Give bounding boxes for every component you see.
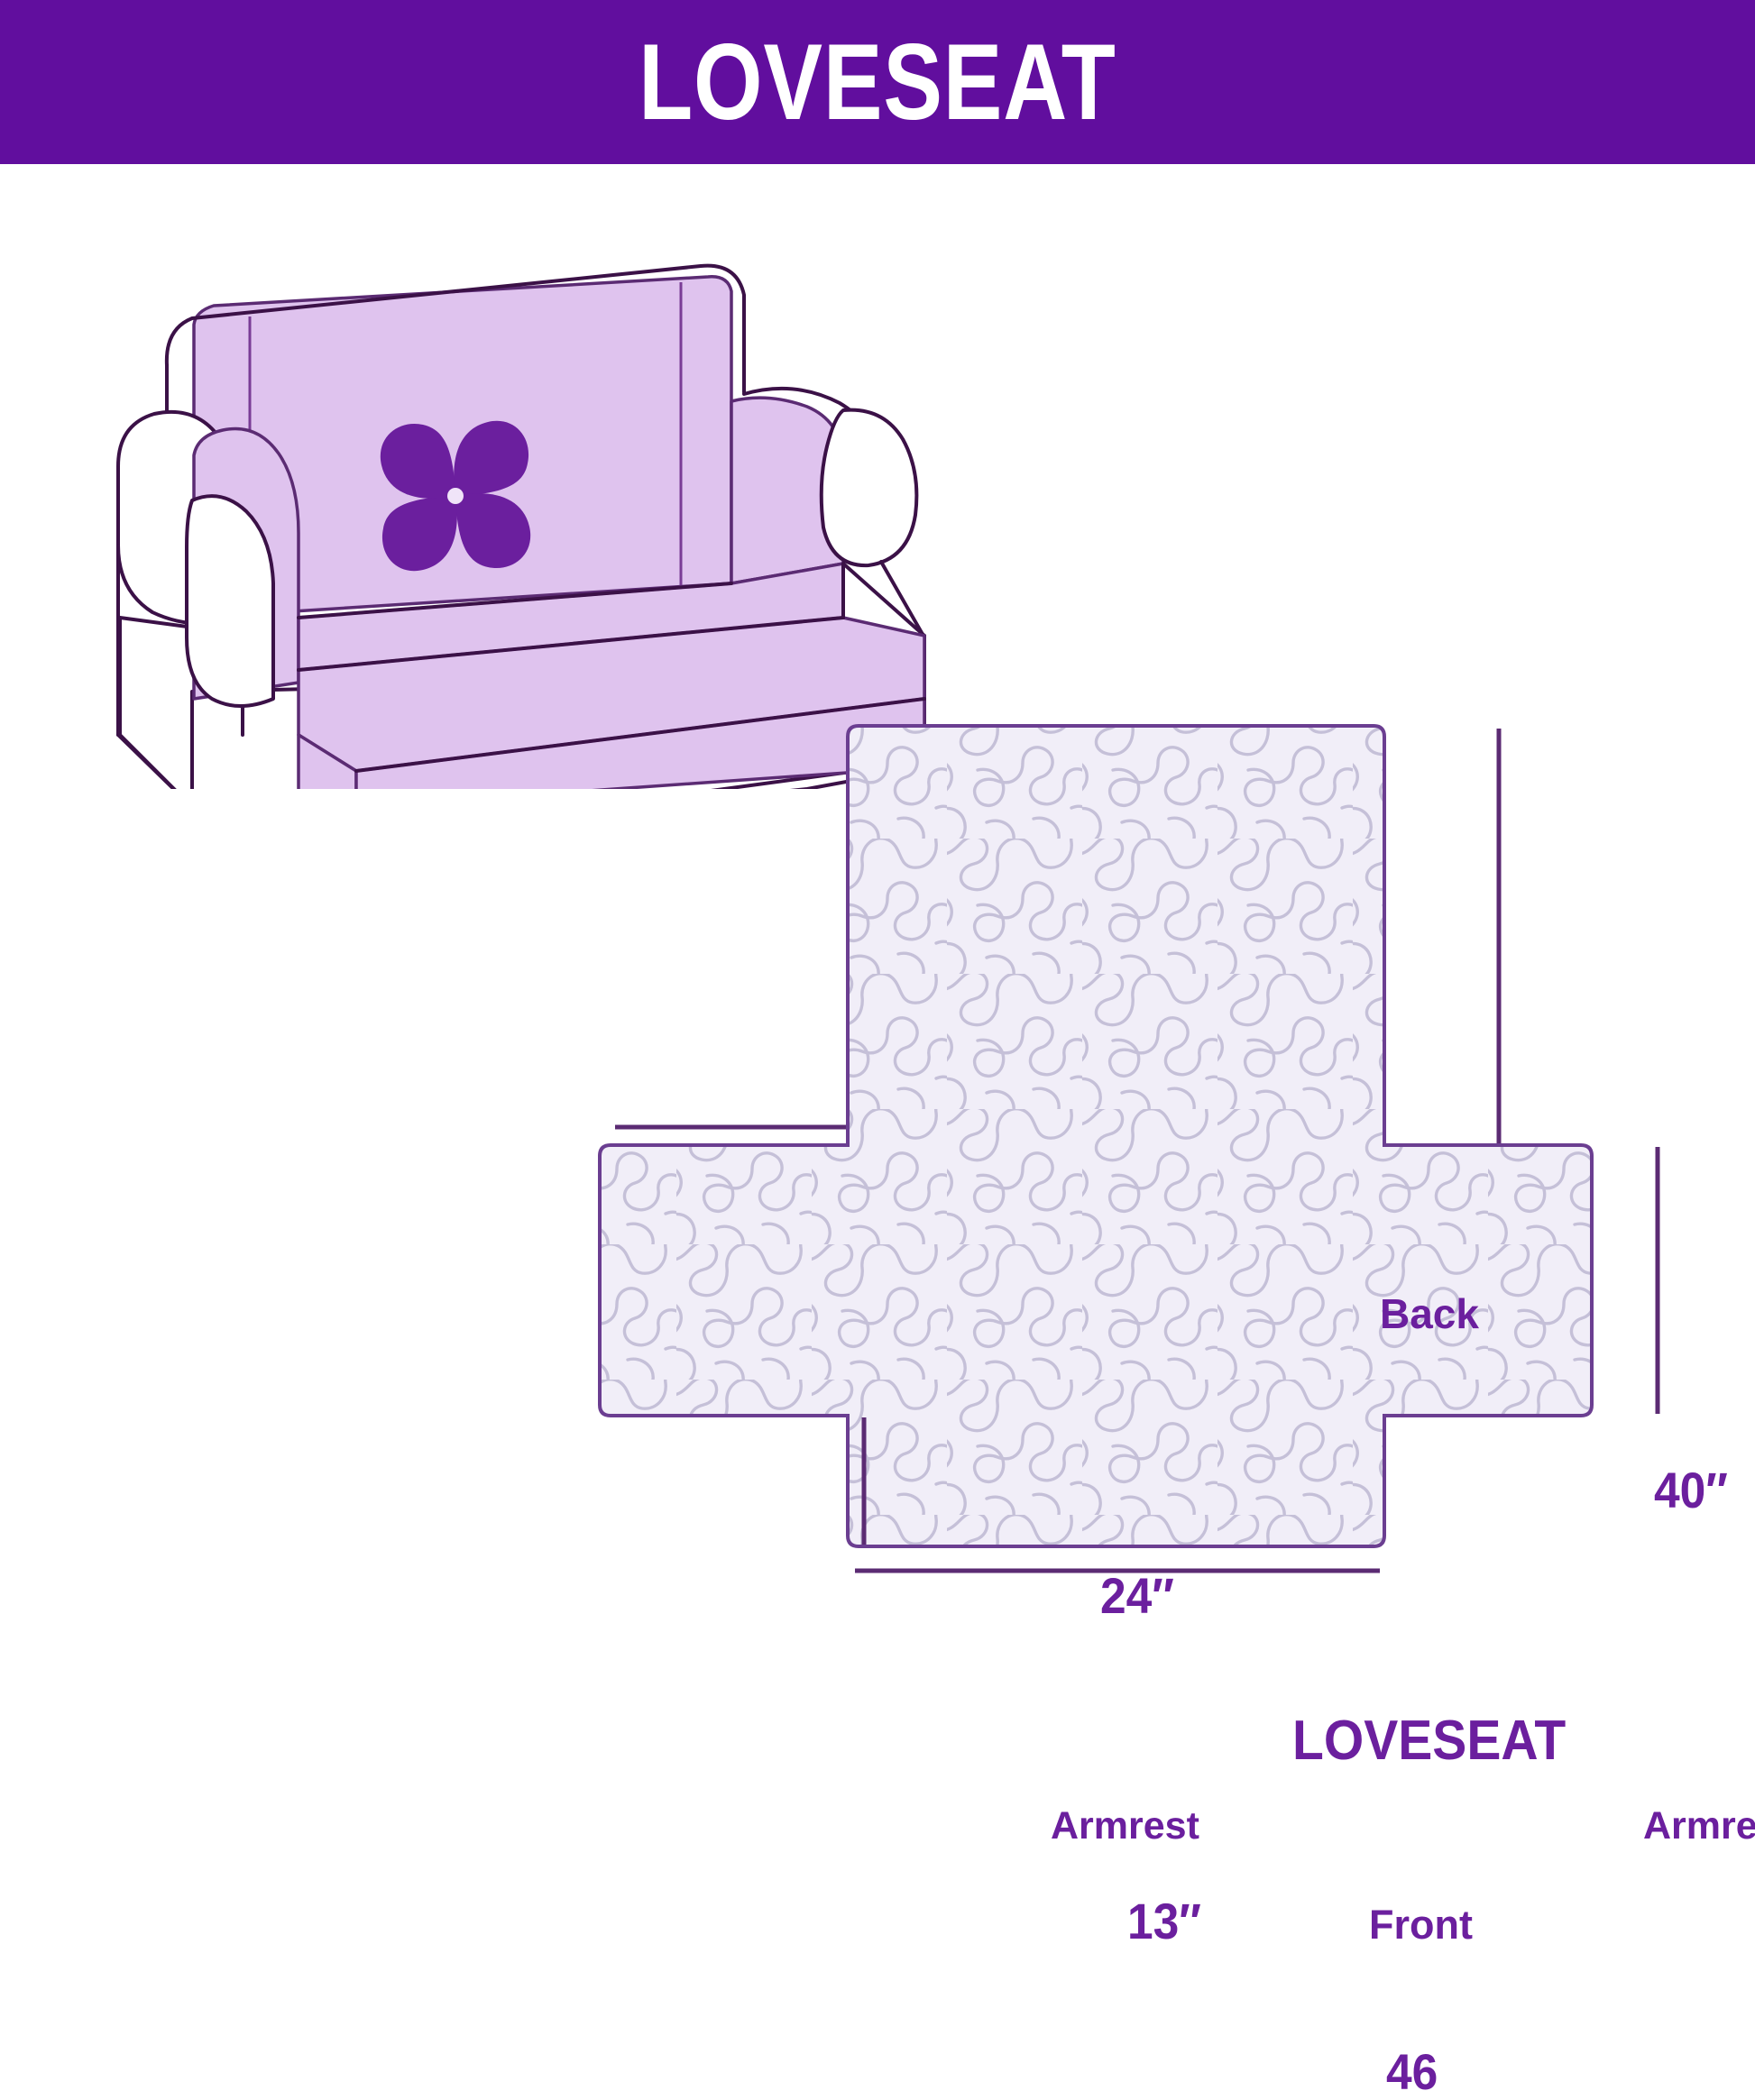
dimension-label-back-height: 40″	[1654, 1465, 1728, 1516]
page-title: LOVESEAT	[639, 28, 1116, 136]
dimension-label-back-width: 24″	[1100, 1571, 1174, 1621]
slipcover-pattern-diagram: .panel { fill: url(#quilt); stroke: #6B3…	[541, 703, 1755, 1704]
panel-label-back: Back	[1380, 1293, 1479, 1334]
panel-label-armrest-right: Armrest	[1643, 1807, 1755, 1846]
dimension-label-front-width: 46	[1386, 2047, 1438, 2097]
panel-label-armrest-left: Armrest	[1051, 1807, 1199, 1846]
diagram-title-loveseat: LOVESEAT	[1292, 1713, 1566, 1769]
slipcover-outline	[600, 726, 1592, 1546]
dimension-label-front-height: 13″	[1127, 1896, 1201, 1947]
panel-label-front: Front	[1369, 1904, 1473, 1945]
header-banner: LOVESEAT	[0, 0, 1755, 164]
